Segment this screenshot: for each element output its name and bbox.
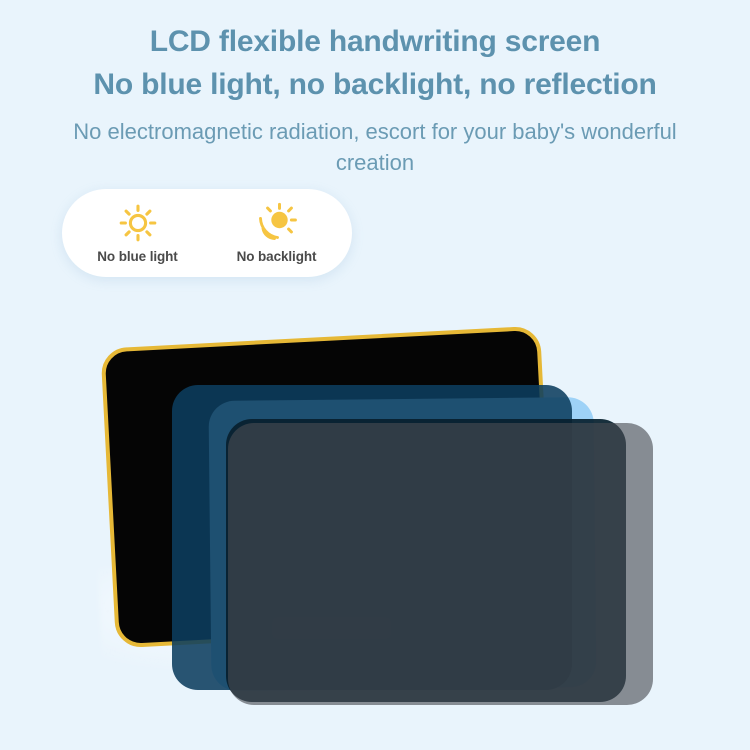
product-banner: LCD flexible handwriting screen No blue … (0, 0, 750, 750)
grey-film (228, 423, 653, 705)
product-image (0, 0, 750, 750)
